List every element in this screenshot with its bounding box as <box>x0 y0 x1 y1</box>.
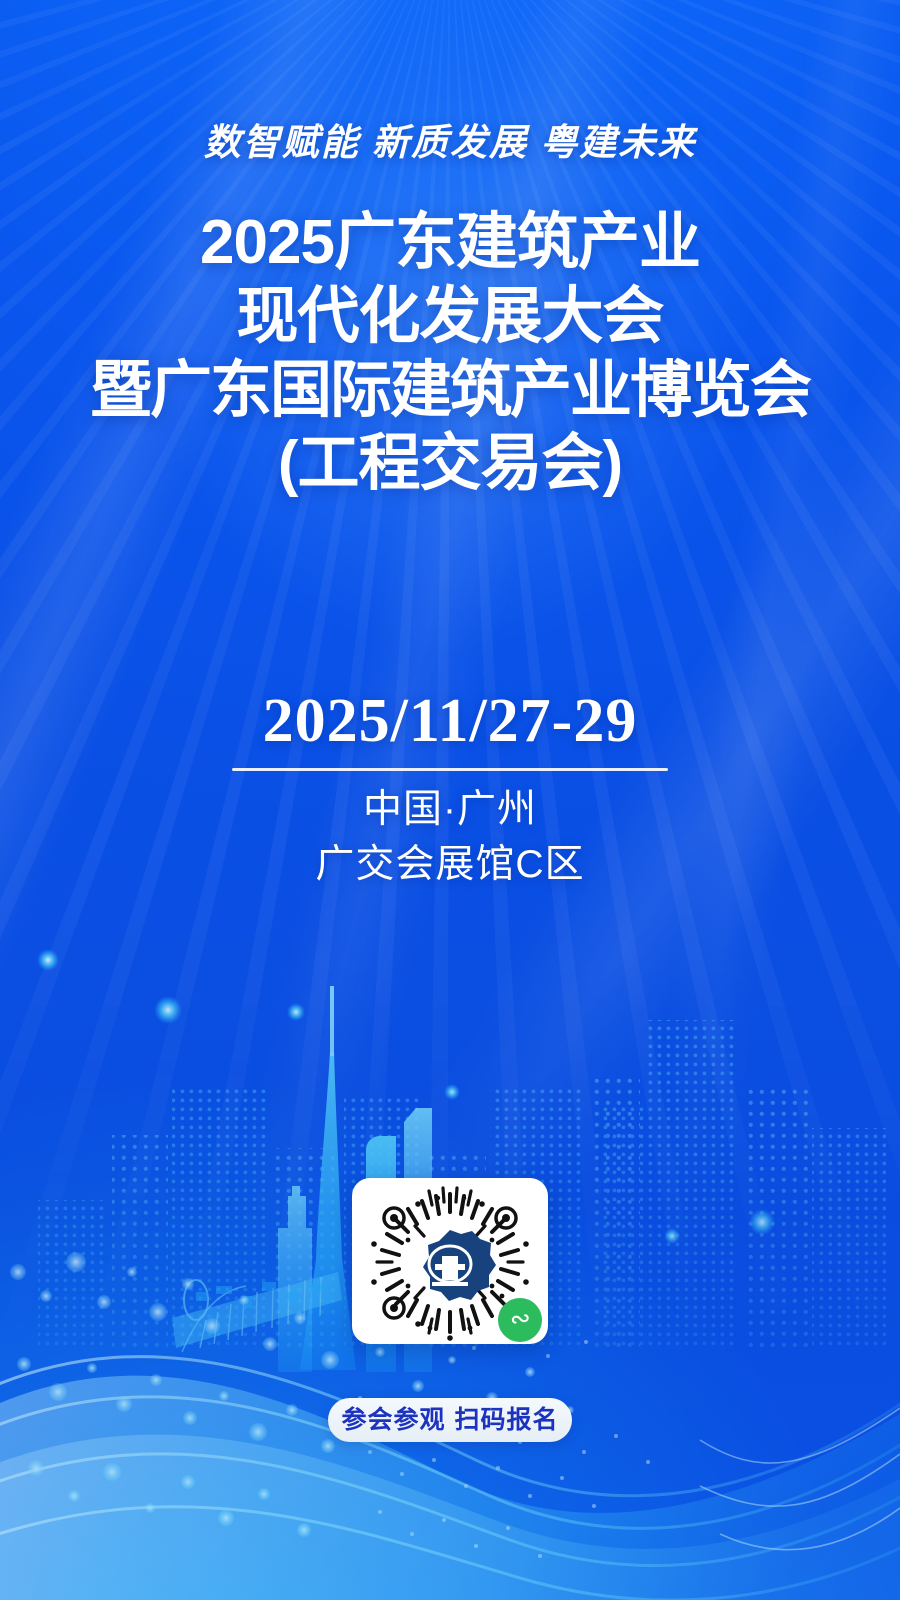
poster-tagline: 数智赋能 新质发展 粤建未来 <box>0 112 900 166</box>
wechat-miniprogram-badge-icon <box>498 1298 542 1342</box>
event-date: 2025/11/27-29 <box>263 690 638 752</box>
poster-title: 2025广东建筑产业 现代化发展大会 暨广东国际建筑产业博览会 (工程交易会) <box>0 206 900 501</box>
conference-poster: 数智赋能 新质发展 粤建未来 2025广东建筑产业 现代化发展大会 暨广东国际建… <box>0 0 900 1600</box>
title-line-2: 现代化发展大会 <box>0 280 900 354</box>
register-cta-pill[interactable]: 参会参观 扫码报名 <box>328 1398 572 1442</box>
title-line-4: (工程交易会) <box>0 427 900 501</box>
venue-line-2: 广交会展馆C区 <box>0 837 900 892</box>
building-emblem-icon <box>423 1230 496 1301</box>
venue-line-1: 中国·广州 <box>0 782 900 837</box>
date-underline-rule <box>232 768 668 771</box>
event-date-block: 2025/11/27-29 <box>0 690 900 771</box>
title-line-1: 2025广东建筑产业 <box>0 206 900 280</box>
title-line-3: 暨广东国际建筑产业博览会 <box>0 354 900 428</box>
event-venue-block: 中国·广州 广交会展馆C区 <box>0 782 900 893</box>
registration-qr-code[interactable] <box>352 1178 548 1344</box>
cta-text-part2: 扫码报名 <box>455 1408 559 1433</box>
cta-text-part1: 参会参观 <box>341 1408 445 1433</box>
